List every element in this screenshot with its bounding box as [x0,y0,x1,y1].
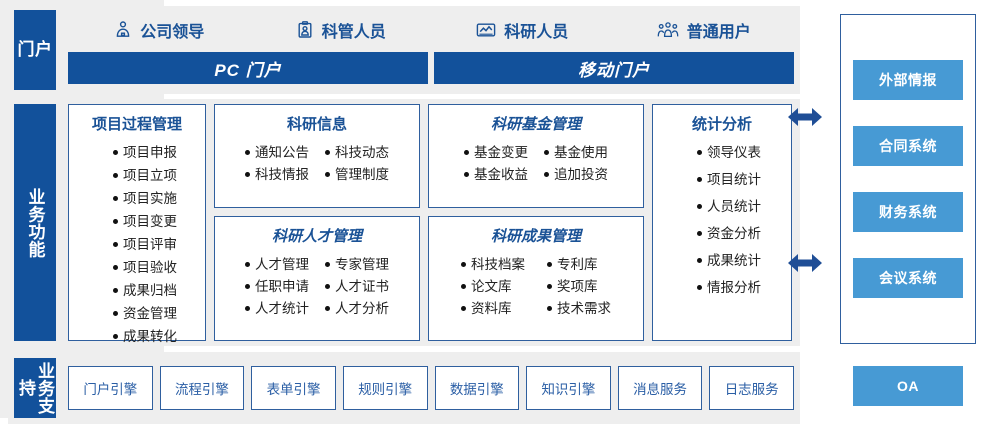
list-item[interactable]: 资料库 [461,297,525,317]
bullet-icon [113,173,118,178]
system-oa[interactable]: OA [853,366,963,406]
list-item[interactable]: 技术需求 [547,297,611,317]
list-item[interactable]: 通知公告 [245,141,309,161]
double-arrow-horizontal-icon-bottom [786,249,824,282]
role-researcher[interactable]: 科研人员 [431,18,613,42]
bullet-icon [325,150,330,155]
item-label: 项目统计 [707,168,761,188]
role-general-user[interactable]: 普通用户 [613,18,795,42]
item-label: 成果统计 [707,249,761,269]
bullet-icon [461,284,466,289]
system-contract[interactable]: 合同系统 [853,126,963,166]
item-label: 人才证书 [335,275,389,295]
bullet-icon [697,258,702,263]
list-item[interactable]: 资金管理 [113,302,177,322]
item-label: 奖项库 [557,275,598,295]
engine-knowledge[interactable]: 知识引擎 [526,366,611,410]
bullet-icon [113,242,118,247]
item-label: 资金分析 [707,222,761,242]
bullet-icon [113,311,118,316]
list-item[interactable]: 项目实施 [113,187,177,207]
bullet-icon [245,284,250,289]
bullet-icon [697,177,702,182]
item-label: 资金管理 [123,302,177,322]
list-item[interactable]: 专家管理 [325,253,389,273]
item-label: 领导仪表 [707,141,761,161]
service-message[interactable]: 消息服务 [618,366,703,410]
card-project-process[interactable]: 项目过程管理 项目申报 项目立项 项目实施 项目变更 项目评审 项目验收 成果归… [68,104,206,341]
bullet-icon [325,172,330,177]
item-label: 项目申报 [123,141,177,161]
column-project: 项目过程管理 项目申报 项目立项 项目实施 项目变更 项目评审 项目验收 成果归… [68,104,206,341]
item-label: 技术需求 [557,297,611,317]
business-support-tab-label: 业务支持 [16,360,54,416]
list-item[interactable]: 成果转化 [113,325,177,345]
item-label: 人才统计 [255,297,309,317]
bullet-icon [547,262,552,267]
bullet-icon [113,150,118,155]
engine-workflow[interactable]: 流程引擎 [160,366,245,410]
item-label: 项目验收 [123,256,177,276]
list-item[interactable]: 人才分析 [325,297,389,317]
person-icon [113,20,133,40]
architecture-diagram: 门户 公司领导 科管人员 [0,0,1000,436]
bullet-icon [544,150,549,155]
business-functions-tab-label: 业务功能 [25,188,44,258]
item-label: 项目变更 [123,210,177,230]
item-label: 任职申请 [255,275,309,295]
list-item[interactable]: 科技档案 [461,253,525,273]
item-label: 基金收益 [474,163,528,183]
bullet-icon [461,262,466,267]
card-items: 通知公告 科技动态 科技情报 管理制度 [245,141,389,183]
item-label: 情报分析 [707,276,761,296]
role-label: 普通用户 [687,18,751,42]
card-title: 科研人才管理 [272,225,362,246]
list-item[interactable]: 成果统计 [697,249,761,269]
list-item[interactable]: 领导仪表 [697,141,761,161]
list-item[interactable]: 科技情报 [245,163,309,183]
chart-monitor-icon [475,20,497,40]
list-item[interactable]: 论文库 [461,275,525,295]
list-item[interactable]: 项目评审 [113,233,177,253]
engine-form[interactable]: 表单引擎 [251,366,336,410]
role-company-leader[interactable]: 公司领导 [68,18,250,42]
pc-portal-button[interactable]: PC 门户 [68,52,428,84]
bullet-icon [547,306,552,311]
item-label: 科技情报 [255,163,309,183]
list-item[interactable]: 科技动态 [325,141,389,161]
item-label: 资料库 [471,297,512,317]
role-research-admin[interactable]: 科管人员 [250,18,432,42]
service-log[interactable]: 日志服务 [709,366,794,410]
list-item[interactable]: 基金使用 [544,141,608,161]
list-item[interactable]: 人才统计 [245,297,309,317]
card-research-info[interactable]: 科研信息 通知公告 科技动态 科技情报 管理制度 [214,104,420,208]
bullet-icon [325,262,330,267]
bullet-icon [697,150,702,155]
item-label: 项目立项 [123,164,177,184]
column-fund-achievement: 科研基金管理 基金变更 基金使用 基金收益 追加投资 科研成果管理 科技档案 专… [428,104,644,341]
engine-row: 门户引擎 流程引擎 表单引擎 规则引擎 数据引擎 知识引擎 消息服务 日志服务 [68,366,794,410]
card-title: 项目过程管理 [92,113,182,134]
list-item[interactable]: 人才证书 [325,275,389,295]
id-badge-icon [295,20,315,40]
card-title: 科研成果管理 [491,225,581,246]
people-group-icon [656,20,680,40]
item-label: 基金变更 [474,141,528,161]
list-item[interactable]: 项目验收 [113,256,177,276]
bullet-icon [464,172,469,177]
item-label: 管理制度 [335,163,389,183]
bullet-icon [245,262,250,267]
bullet-icon [697,285,702,290]
list-item[interactable]: 项目统计 [697,168,761,188]
item-label: 基金使用 [554,141,608,161]
list-item[interactable]: 情报分析 [697,276,761,296]
list-item[interactable]: 任职申请 [245,275,309,295]
bullet-icon [544,172,549,177]
role-label: 科管人员 [322,18,386,42]
list-item[interactable]: 人员统计 [697,195,761,215]
card-title: 科研信息 [287,113,347,134]
bullet-icon [113,265,118,270]
card-research-achievement[interactable]: 科研成果管理 科技档案 专利库 论文库 奖项库 资料库 技术需求 [428,216,644,341]
item-label: 人才分析 [335,297,389,317]
business-support-tab: 业务支持 [14,358,56,418]
role-label: 公司领导 [140,18,204,42]
bullet-icon [325,306,330,311]
list-item[interactable]: 项目立项 [113,164,177,184]
item-label: 项目评审 [123,233,177,253]
item-label: 科技档案 [471,253,525,273]
role-row: 公司领导 科管人员 科研人员 [68,10,794,50]
engine-portal[interactable]: 门户引擎 [68,366,153,410]
item-label: 项目实施 [123,187,177,207]
card-title: 科研基金管理 [491,113,581,134]
external-systems-box: 外部情报 合同系统 财务系统 会议系统 [840,14,976,344]
card-research-fund[interactable]: 科研基金管理 基金变更 基金使用 基金收益 追加投资 [428,104,644,208]
bullet-icon [113,196,118,201]
portal-section-tab: 门户 [14,10,56,90]
card-items: 科技档案 专利库 论文库 奖项库 资料库 技术需求 [461,253,611,317]
item-label: 科技动态 [335,141,389,161]
bullet-icon [113,219,118,224]
portal-tab-label: 门户 [18,40,53,59]
function-cards: 项目过程管理 项目申报 项目立项 项目实施 项目变更 项目评审 项目验收 成果归… [68,104,794,341]
mobile-portal-button[interactable]: 移动门户 [434,52,794,84]
bullet-icon [113,334,118,339]
column-info-talent: 科研信息 通知公告 科技动态 科技情报 管理制度 科研人才管理 人才管理 专家管… [214,104,420,341]
bullet-icon [461,306,466,311]
card-items: 人才管理 专家管理 任职申请 人才证书 人才统计 人才分析 [245,253,389,317]
system-external-intel[interactable]: 外部情报 [853,60,963,100]
item-label: 专利库 [557,253,598,273]
list-item[interactable]: 项目申报 [113,141,177,161]
bullet-icon [697,204,702,209]
card-title: 统计分析 [692,113,752,134]
system-finance[interactable]: 财务系统 [853,192,963,232]
list-item[interactable]: 追加投资 [544,163,608,183]
bullet-icon [245,172,250,177]
list-item[interactable]: 专利库 [547,253,611,273]
card-items: 领导仪表 项目统计 人员统计 资金分析 成果统计 情报分析 [683,141,761,296]
card-items: 基金变更 基金使用 基金收益 追加投资 [464,141,608,183]
list-item[interactable]: 资金分析 [697,222,761,242]
bullet-icon [325,284,330,289]
list-item[interactable]: 基金变更 [464,141,528,161]
portal-buttons: PC 门户 移动门户 [68,52,794,84]
list-item[interactable]: 人才管理 [245,253,309,273]
bullet-icon [245,150,250,155]
bullet-icon [697,231,702,236]
item-label: 成果归档 [123,279,177,299]
role-label: 科研人员 [504,18,568,42]
item-label: 追加投资 [554,163,608,183]
list-item[interactable]: 基金收益 [464,163,528,183]
item-label: 通知公告 [255,141,309,161]
item-label: 成果转化 [123,325,177,345]
list-item[interactable]: 奖项库 [547,275,611,295]
double-arrow-horizontal-icon-top [786,103,824,136]
item-label: 论文库 [471,275,512,295]
list-item[interactable]: 项目变更 [113,210,177,230]
item-label: 专家管理 [335,253,389,273]
business-functions-tab: 业务功能 [14,104,56,341]
card-statistics[interactable]: 统计分析 领导仪表 项目统计 人员统计 资金分析 成果统计 情报分析 [652,104,792,341]
engine-data[interactable]: 数据引擎 [435,366,520,410]
item-label: 人员统计 [707,195,761,215]
bullet-icon [464,150,469,155]
system-meeting[interactable]: 会议系统 [853,258,963,298]
bullet-icon [113,288,118,293]
bullet-icon [245,306,250,311]
item-label: 人才管理 [255,253,309,273]
bullet-icon [547,284,552,289]
card-research-talent[interactable]: 科研人才管理 人才管理 专家管理 任职申请 人才证书 人才统计 人才分析 [214,216,420,341]
list-item[interactable]: 成果归档 [113,279,177,299]
card-items: 项目申报 项目立项 项目实施 项目变更 项目评审 项目验收 成果归档 资金管理 … [97,141,177,345]
column-statistics: 统计分析 领导仪表 项目统计 人员统计 资金分析 成果统计 情报分析 [652,104,792,341]
list-item[interactable]: 管理制度 [325,163,389,183]
engine-rule[interactable]: 规则引擎 [343,366,428,410]
